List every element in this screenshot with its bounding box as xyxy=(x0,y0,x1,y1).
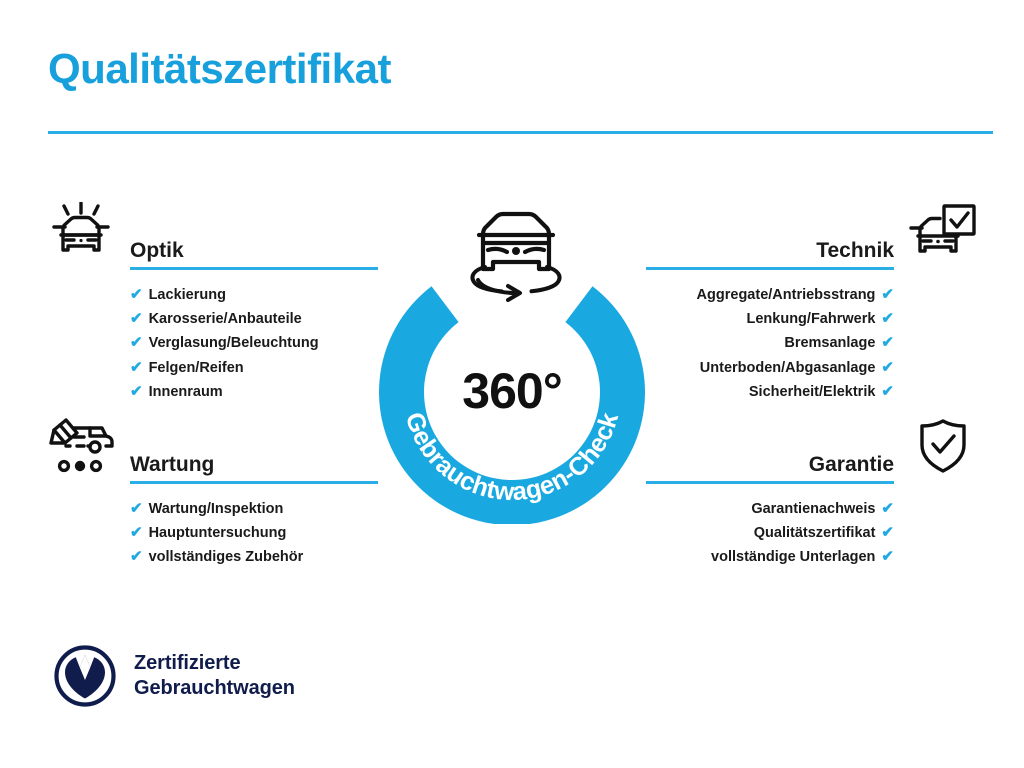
list-item: ✔Wartung/Inspektion xyxy=(130,497,380,521)
section-technik-header: Technik xyxy=(644,200,980,270)
section-wartung-title-wrap: Wartung xyxy=(130,453,378,484)
car-front-shine-icon xyxy=(44,202,118,264)
list-item: ✔Hauptuntersuchung xyxy=(130,521,380,545)
list-item: vollständige Unterlagen✔ xyxy=(644,545,894,569)
list-item-label: Lackierung xyxy=(149,287,226,303)
list-item: ✔Lackierung xyxy=(130,283,380,307)
list-item-label: vollständige Unterlagen xyxy=(711,549,875,565)
list-item: ✔Felgen/Reifen xyxy=(130,356,380,380)
check-icon: ✔ xyxy=(130,307,143,330)
list-item: ✔Innenraum xyxy=(130,380,380,404)
check-icon: ✔ xyxy=(881,307,894,330)
check-icon: ✔ xyxy=(130,380,143,403)
list-item: Unterboden/Abgasanlage✔ xyxy=(644,356,894,380)
page-title: Qualitätszertifikat xyxy=(48,48,391,90)
list-item: Aggregate/Antriebsstrang✔ xyxy=(644,283,894,307)
check-icon: ✔ xyxy=(881,545,894,568)
section-garantie-underline xyxy=(646,481,894,484)
section-garantie-title-wrap: Garantie xyxy=(646,453,894,484)
list-item-label: Aggregate/Antriebsstrang xyxy=(697,287,876,303)
section-wartung-title: Wartung xyxy=(130,453,378,481)
check-icon: ✔ xyxy=(881,356,894,379)
list-item-label: Sicherheit/Elektrik xyxy=(749,384,876,400)
check-icon: ✔ xyxy=(130,331,143,354)
section-wartung-header: Wartung xyxy=(44,414,380,484)
volkswagen-logo xyxy=(54,645,116,707)
list-item: ✔Karosserie/Anbauteile xyxy=(130,307,380,331)
shield-check-icon xyxy=(906,416,980,478)
section-optik-title: Optik xyxy=(130,239,378,267)
list-item: Qualitätszertifikat✔ xyxy=(644,521,894,545)
check-icon: ✔ xyxy=(881,331,894,354)
check-icon: ✔ xyxy=(881,380,894,403)
section-technik: Technik Aggregate/Antriebsstrang✔ Lenkun… xyxy=(644,200,980,404)
check-icon: ✔ xyxy=(881,497,894,520)
car-front-checkbox-icon xyxy=(906,202,980,264)
list-item-label: Hauptuntersuchung xyxy=(149,525,287,541)
list-item-label: Verglasung/Beleuchtung xyxy=(149,335,319,351)
section-optik-underline xyxy=(130,267,378,270)
list-item-label: Bremsanlage xyxy=(784,335,875,351)
list-item-label: Lenkung/Fahrwerk xyxy=(747,311,876,327)
section-technik-underline xyxy=(646,267,894,270)
section-garantie-header: Garantie xyxy=(644,414,980,484)
vw-footer-lockup: Zertifizierte Gebrauchtwagen xyxy=(54,645,295,707)
section-technik-title: Technik xyxy=(646,239,894,267)
car-rotation-360-icon xyxy=(452,196,580,302)
list-item-label: Innenraum xyxy=(149,384,223,400)
section-technik-title-wrap: Technik xyxy=(646,239,894,270)
section-wartung-underline xyxy=(130,481,378,484)
list-item: Sicherheit/Elektrik✔ xyxy=(644,380,894,404)
list-item-label: Wartung/Inspektion xyxy=(149,501,284,517)
check-icon: ✔ xyxy=(881,521,894,544)
vw-footer-line1: Zertifizierte xyxy=(134,651,295,676)
list-item-label: Unterboden/Abgasanlage xyxy=(700,360,876,376)
list-item-label: Qualitätszertifikat xyxy=(754,525,876,541)
check-icon: ✔ xyxy=(130,497,143,520)
section-garantie-title: Garantie xyxy=(646,453,894,481)
list-item-label: Garantienachweis xyxy=(751,501,875,517)
title-divider xyxy=(48,131,993,134)
vw-footer-line2: Gebrauchtwagen xyxy=(134,676,295,701)
vw-footer-text: Zertifizierte Gebrauchtwagen xyxy=(134,651,295,701)
list-item: Lenkung/Fahrwerk✔ xyxy=(644,307,894,331)
list-item: Garantienachweis✔ xyxy=(644,497,894,521)
section-technik-list: Aggregate/Antriebsstrang✔ Lenkung/Fahrwe… xyxy=(644,270,980,404)
list-item-label: Felgen/Reifen xyxy=(149,360,244,376)
section-garantie-list: Garantienachweis✔ Qualitätszertifikat✔ v… xyxy=(644,484,980,570)
section-optik-header: Optik xyxy=(44,200,380,270)
check-icon: ✔ xyxy=(130,356,143,379)
car-service-pencil-icon xyxy=(44,416,118,478)
check-icon: ✔ xyxy=(130,283,143,306)
section-optik-list: ✔Lackierung ✔Karosserie/Anbauteile ✔Verg… xyxy=(44,270,380,404)
list-item: ✔Verglasung/Beleuchtung xyxy=(130,331,380,355)
section-optik: Optik ✔Lackierung ✔Karosserie/Anbauteile… xyxy=(44,200,380,404)
list-item-label: Karosserie/Anbauteile xyxy=(149,311,302,327)
list-item: ✔vollständiges Zubehör xyxy=(130,545,380,569)
list-item-label: vollständiges Zubehör xyxy=(149,549,304,565)
section-wartung: Wartung ✔Wartung/Inspektion ✔Hauptunters… xyxy=(44,414,380,570)
section-garantie: Garantie Garantienachweis✔ Qualitätszert… xyxy=(644,414,980,570)
check-icon: ✔ xyxy=(881,283,894,306)
check-icon: ✔ xyxy=(130,521,143,544)
section-optik-title-wrap: Optik xyxy=(130,239,378,270)
section-wartung-list: ✔Wartung/Inspektion ✔Hauptuntersuchung ✔… xyxy=(44,484,380,570)
list-item: Bremsanlage✔ xyxy=(644,331,894,355)
check-icon: ✔ xyxy=(130,545,143,568)
